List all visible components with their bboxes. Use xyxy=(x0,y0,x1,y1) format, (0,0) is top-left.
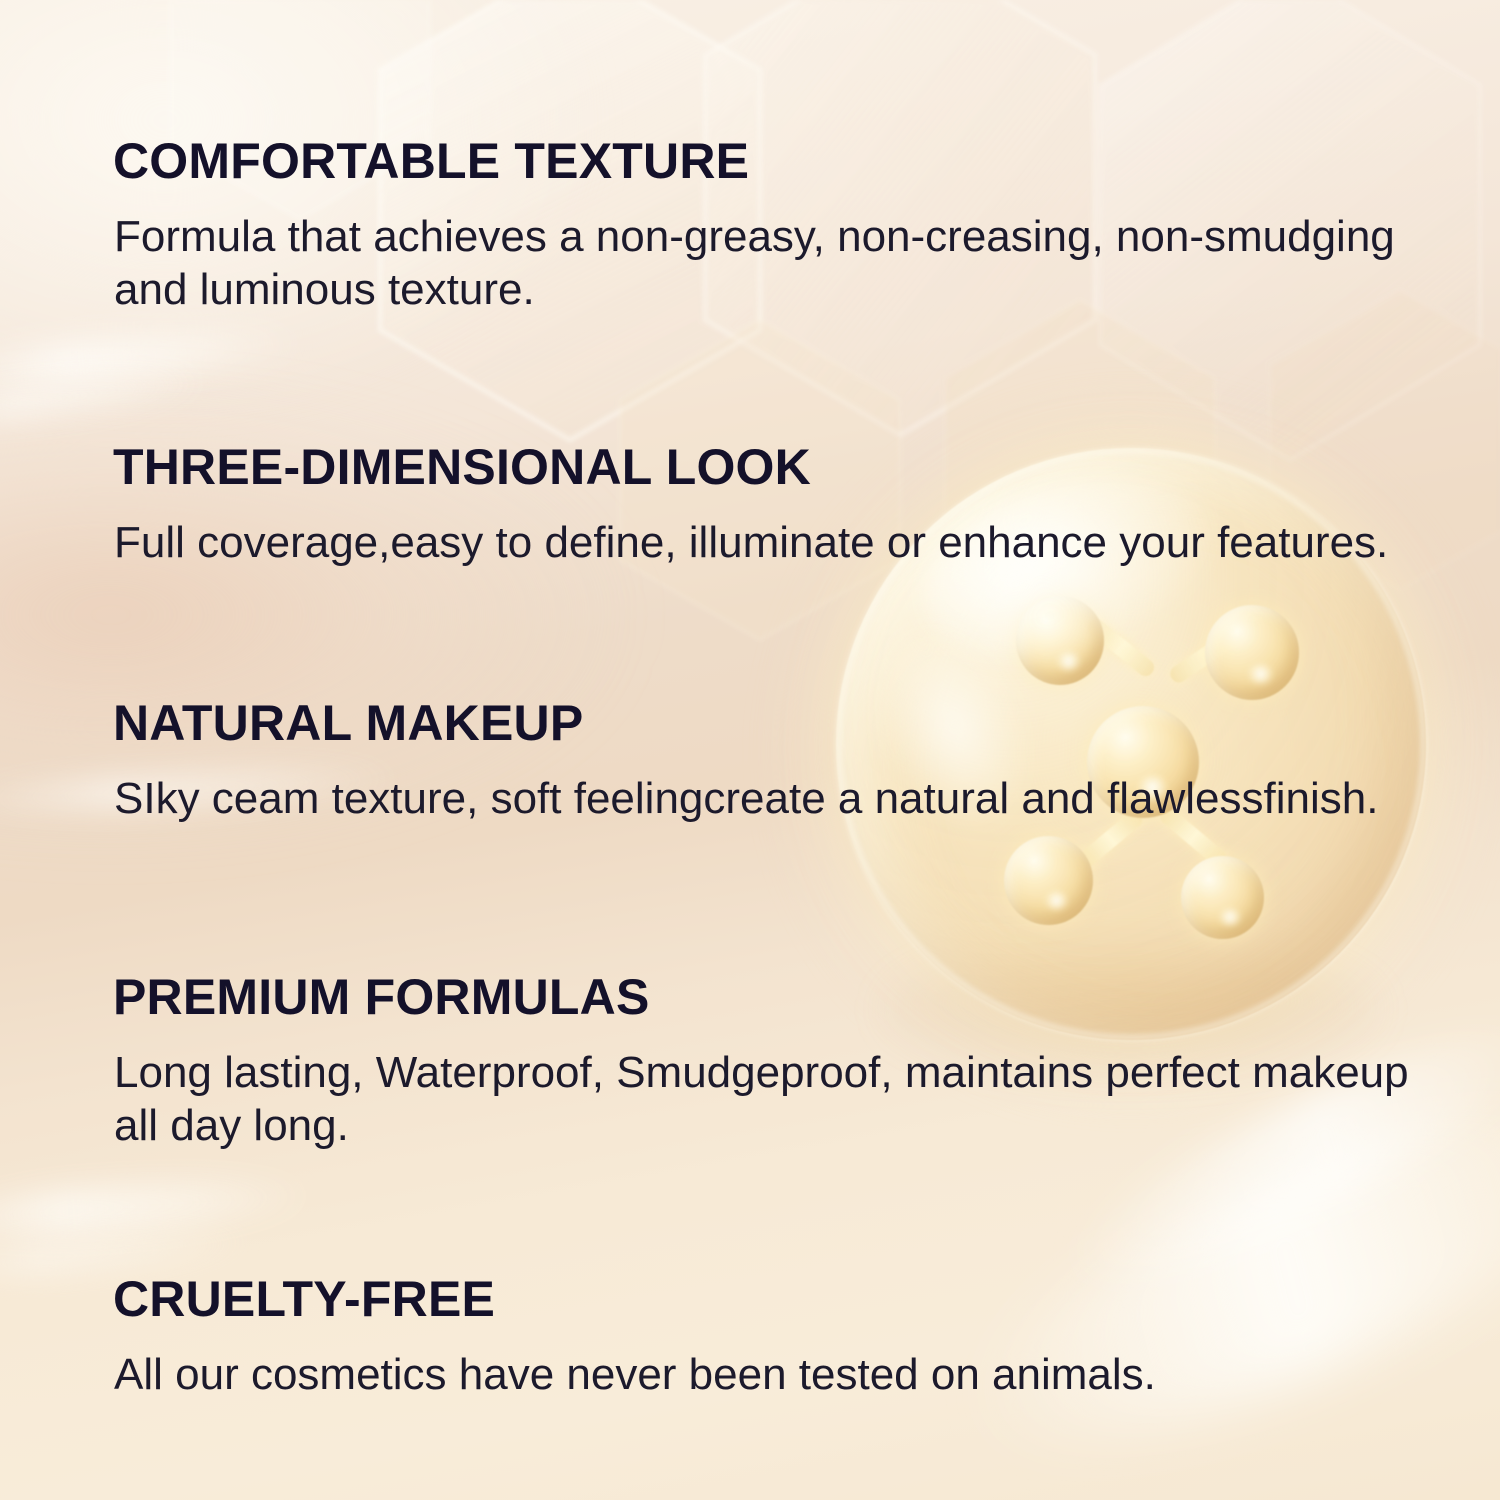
feature-title: PREMIUM FORMULAS xyxy=(113,972,1433,1022)
feature-title: NATURAL MAKEUP xyxy=(113,698,1433,748)
feature-block-natural-makeup: NATURAL MAKEUP SIky ceam texture, soft f… xyxy=(113,698,1433,825)
product-feature-banner: COMFORTABLE TEXTURE Formula that achieve… xyxy=(0,0,1500,1500)
feature-title: CRUELTY-FREE xyxy=(113,1274,1433,1324)
feature-list: COMFORTABLE TEXTURE Formula that achieve… xyxy=(0,0,1500,1500)
feature-block-three-dimensional-look: THREE-DIMENSIONAL LOOK Full coverage,eas… xyxy=(113,442,1433,569)
feature-description: Long lasting, Waterproof, Smudgeproof, m… xyxy=(114,1046,1419,1152)
feature-block-cruelty-free: CRUELTY-FREE All our cosmetics have neve… xyxy=(113,1274,1433,1401)
feature-description: Full coverage,easy to define, illuminate… xyxy=(114,516,1419,569)
feature-description: Formula that achieves a non-greasy, non-… xyxy=(114,210,1419,316)
feature-block-comfortable-texture: COMFORTABLE TEXTURE Formula that achieve… xyxy=(113,136,1433,316)
feature-title: COMFORTABLE TEXTURE xyxy=(113,136,1433,186)
feature-description: All our cosmetics have never been tested… xyxy=(114,1348,1419,1401)
feature-block-premium-formulas: PREMIUM FORMULAS Long lasting, Waterproo… xyxy=(113,972,1433,1152)
feature-description: SIky ceam texture, soft feelingcreate a … xyxy=(114,772,1419,825)
feature-title: THREE-DIMENSIONAL LOOK xyxy=(113,442,1433,492)
